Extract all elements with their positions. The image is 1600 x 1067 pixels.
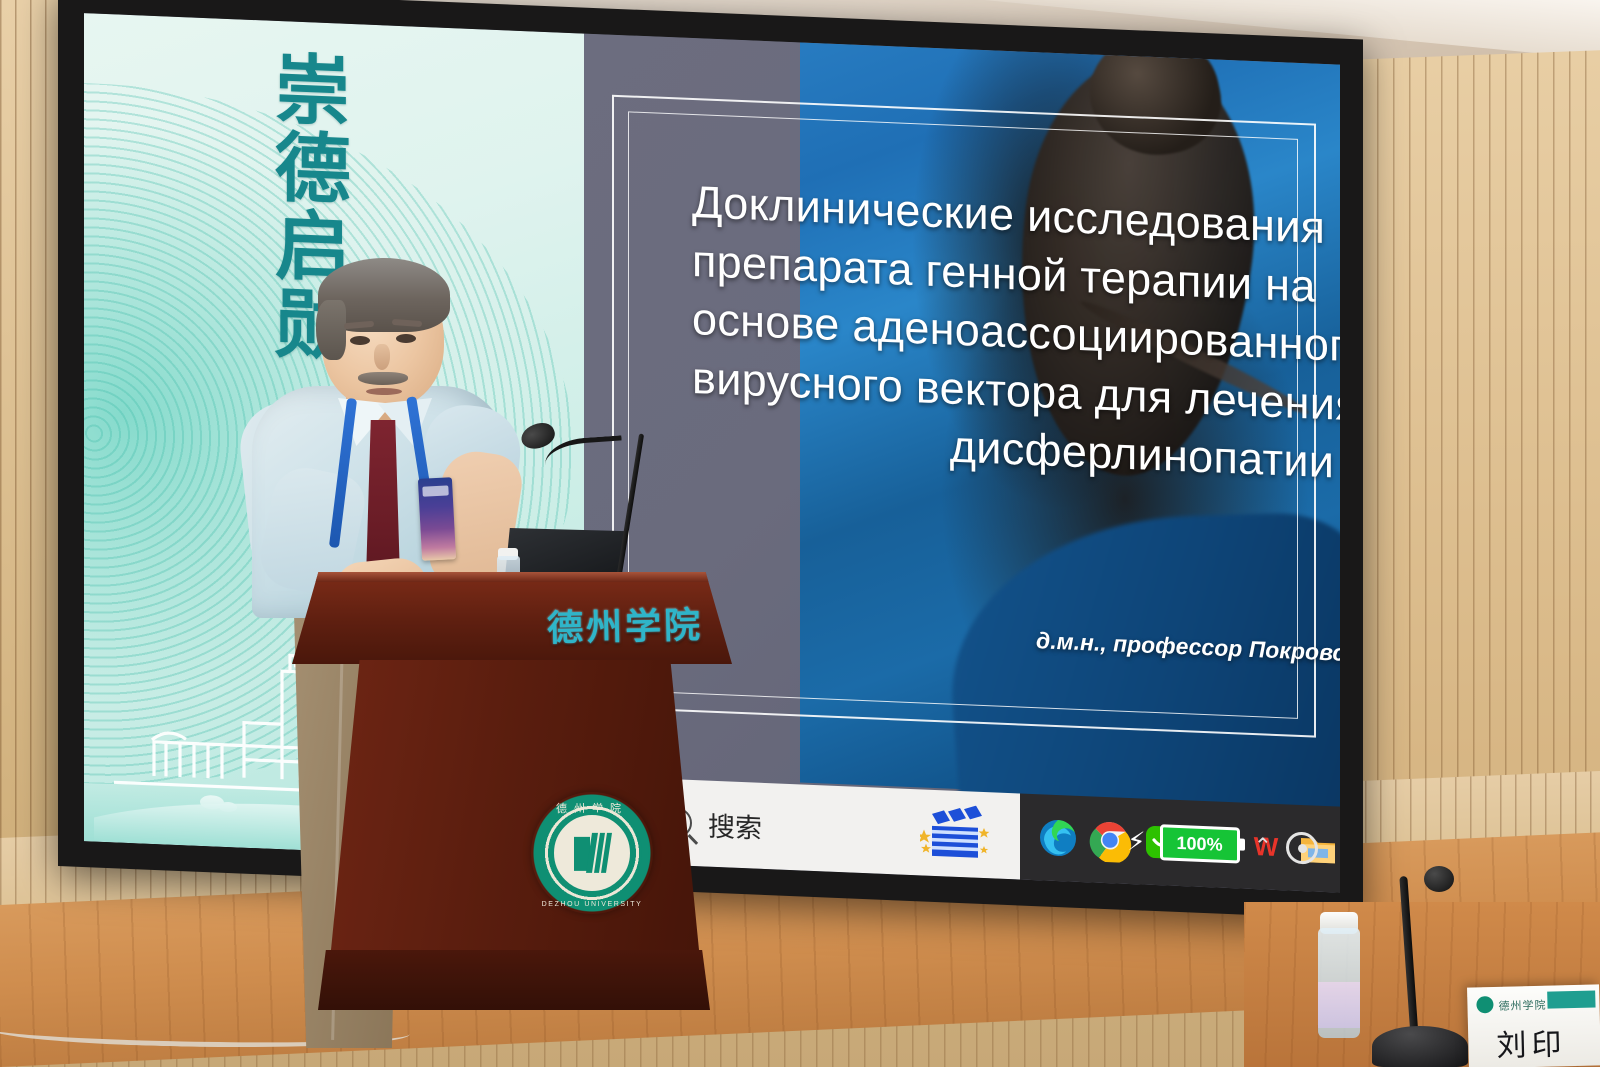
battery-indicator[interactable]: 100%	[1160, 824, 1240, 863]
screen-slide-panel: Доклинические исследования препарата ген…	[584, 34, 1340, 893]
university-seal: 德州学院 DEZHOU UNIVERSITY	[531, 792, 653, 914]
name-card-color-tab	[1547, 990, 1595, 1008]
speaker-moustache	[358, 372, 408, 385]
speaker-mouth	[366, 388, 402, 395]
table-bottle-label	[1318, 982, 1360, 1028]
taskbar-app-area[interactable]: AI W	[1020, 793, 1340, 892]
table-microphone-head	[1424, 866, 1454, 892]
speaker-eye-left	[350, 336, 370, 345]
podium-base	[318, 950, 710, 1010]
clapperboard-icon[interactable]	[920, 803, 990, 862]
lightning-bolt-icon: ⚡	[1127, 828, 1145, 855]
speaker-hair-side	[316, 300, 346, 360]
name-card-logo-icon	[1476, 996, 1493, 1013]
conference-badge	[418, 477, 456, 561]
taskbar-search-box[interactable]: 搜索	[644, 778, 1020, 879]
battery-percent-label: 100%	[1160, 824, 1240, 863]
speaker-nose	[374, 344, 390, 370]
seal-english-text: DEZHOU UNIVERSITY	[531, 901, 653, 908]
podium-name-sign: 德州学院	[546, 596, 703, 651]
conference-hall-photo: 崇德启勋	[0, 0, 1600, 1067]
taskbar-icon-microsoft-edge[interactable]	[1036, 815, 1080, 861]
search-placeholder-label: 搜索	[708, 804, 762, 845]
name-card-name: 刘印	[1496, 1019, 1567, 1065]
table-microphone-base	[1372, 1026, 1468, 1067]
chevron-up-icon[interactable]: ⌃	[1254, 833, 1272, 860]
delegate-name-card: 德州学院 刘印	[1467, 984, 1600, 1067]
seal-inner-disc	[551, 812, 633, 894]
record-circle-icon[interactable]	[1286, 831, 1318, 864]
speaker-eye-right	[396, 334, 416, 343]
slide-title: Доклинические исследования препарата ген…	[692, 173, 1340, 502]
name-card-organization: 德州学院	[1498, 997, 1546, 1014]
system-tray[interactable]: ⚡ 100% ⌃	[1127, 798, 1332, 892]
taskbar-icon-google-chrome[interactable]	[1088, 817, 1132, 863]
podium-desktop: 德州学院	[292, 572, 732, 664]
seal-book-emblem	[570, 831, 614, 877]
